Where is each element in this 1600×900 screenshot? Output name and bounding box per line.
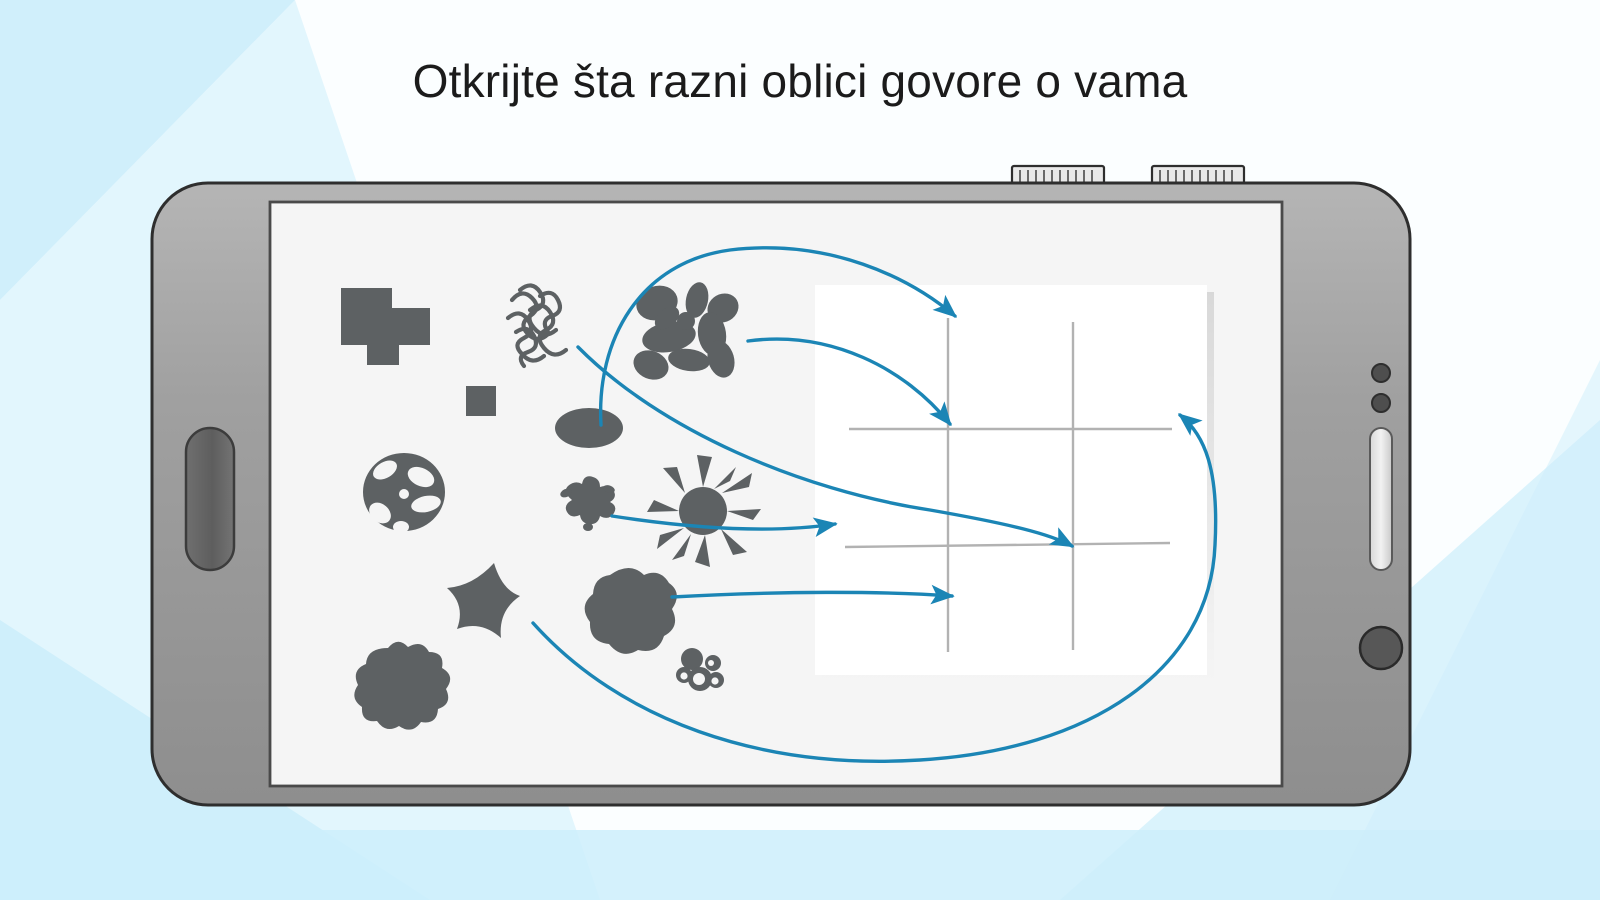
grid-card[interactable] (815, 285, 1214, 682)
sensor-dot-top-icon (1372, 364, 1390, 382)
small-square-shape[interactable] (466, 386, 496, 416)
ellipse-shape[interactable] (555, 408, 623, 448)
sensor-dot-bottom-icon (1372, 394, 1390, 412)
screenshot-root: Otkrijte šta razni oblici govore o vama (0, 0, 1600, 900)
speaker-grille (186, 428, 234, 570)
earpiece-slot (1370, 428, 1392, 570)
home-button[interactable] (1360, 627, 1402, 669)
phone-mockup (0, 0, 1600, 900)
